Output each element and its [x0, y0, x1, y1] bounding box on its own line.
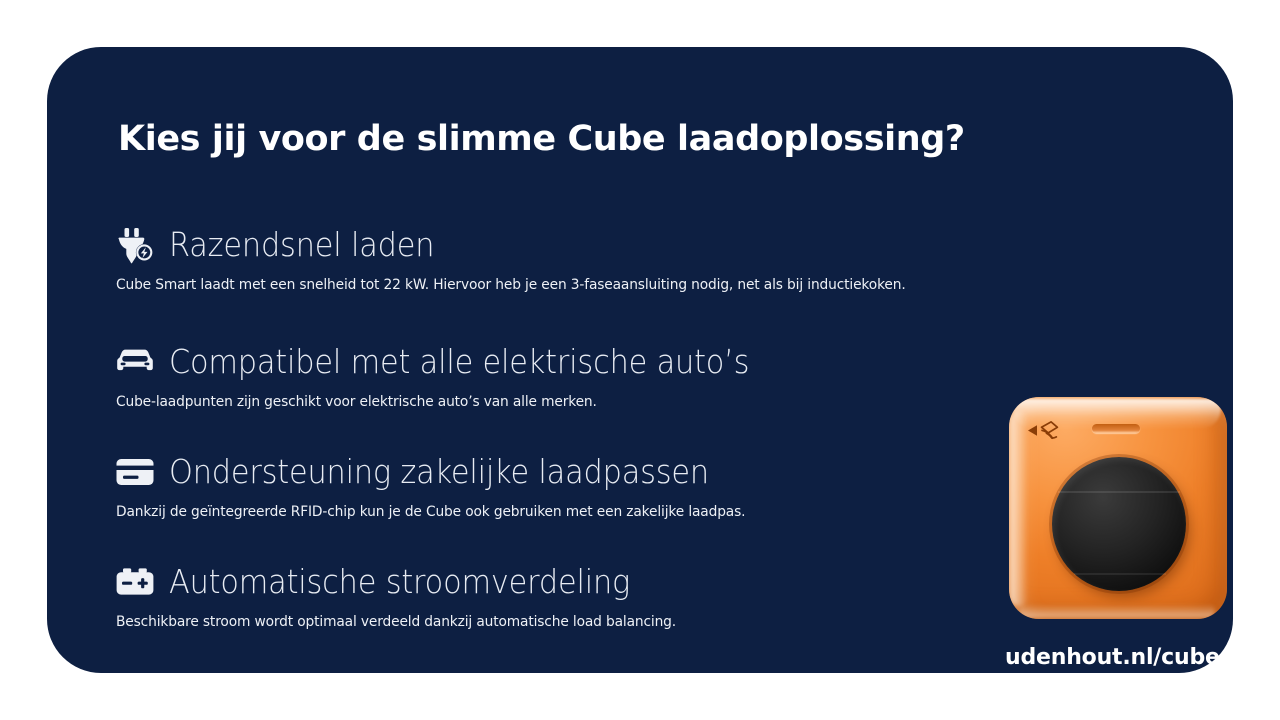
plug-lightning-icon: [112, 225, 158, 265]
feature-description: Dankzij de geïntegreerde RFID-chip kun j…: [116, 504, 948, 520]
promo-banner: Kies jij voor de slimme Cube laadoplossi…: [0, 0, 1280, 720]
card-slot: [1092, 424, 1140, 433]
product-image: [1009, 397, 1227, 619]
product-url[interactable]: udenhout.nl/cube: [1005, 645, 1220, 670]
feature-header: Automatische stroomverdeling: [112, 559, 992, 605]
feature-title: Ondersteuning zakelijke laadpassen: [169, 455, 709, 490]
battery-icon: [112, 562, 158, 602]
body-bottom-glow: [1019, 604, 1215, 618]
charging-socket-cover: [1052, 457, 1186, 591]
socket-seam-bottom: [1074, 573, 1166, 575]
feature-item-load-balancing: Automatische stroomverdeling Beschikbare…: [112, 559, 992, 630]
feature-description: Cube-laadpunten zijn geschikt voor elekt…: [116, 394, 948, 410]
car-front-icon: [112, 342, 158, 382]
feature-description: Beschikbare stroom wordt optimaal verdee…: [116, 614, 948, 630]
charging-station-body: [1009, 397, 1227, 619]
feature-title: Compatibel met alle elektrische auto’s: [169, 345, 749, 380]
feature-header: Compatibel met alle elektrische auto’s: [112, 339, 992, 385]
page-title: Kies jij voor de slimme Cube laadoplossi…: [118, 119, 1078, 159]
rfid-card-hand-icon: [1026, 419, 1078, 445]
promo-card: Kies jij voor de slimme Cube laadoplossi…: [47, 47, 1233, 673]
feature-description: Cube Smart laadt met een snelheid tot 22…: [116, 277, 948, 293]
feature-item-fast-charging: Razendsnel laden Cube Smart laadt met ee…: [112, 222, 992, 293]
feature-item-compatibility: Compatibel met alle elektrische auto’s C…: [112, 339, 992, 410]
feature-title: Automatische stroomverdeling: [169, 565, 630, 600]
feature-item-charge-cards: Ondersteuning zakelijke laadpassen Dankz…: [112, 449, 992, 520]
feature-header: Ondersteuning zakelijke laadpassen: [112, 449, 992, 495]
credit-card-icon: [112, 452, 158, 492]
feature-title: Razendsnel laden: [169, 228, 434, 263]
socket-seam: [1058, 491, 1180, 493]
feature-header: Razendsnel laden: [112, 222, 992, 268]
